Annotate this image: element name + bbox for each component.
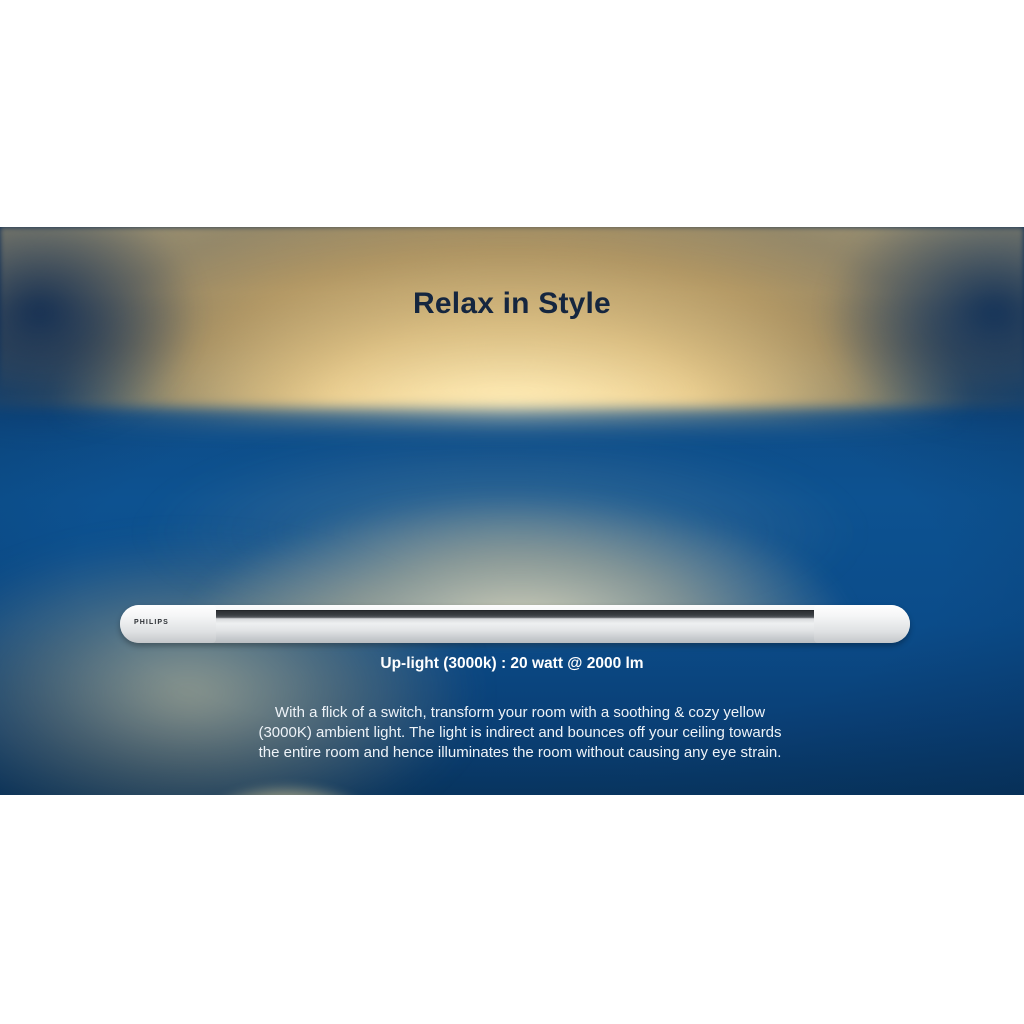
wall-light-glow [188,777,388,795]
page-canvas: Relax in Style PHILIPS Up-light (3000k) … [0,0,1024,1024]
fixture-right-end-cap [814,605,910,643]
description-line-3: the entire room and hence illuminates th… [182,743,858,763]
product-banner: Relax in Style PHILIPS Up-light (3000k) … [0,227,1024,795]
page-title: Relax in Style [0,287,1024,321]
living-room-illustration [60,783,405,795]
product-light-fixture: PHILIPS [120,601,910,647]
fixture-diffuser-slot [208,611,818,637]
description-line-2: (3000K) ambient light. The light is indi… [182,723,858,743]
product-spec-subtitle: Up-light (3000k) : 20 watt @ 2000 lm [0,655,1024,673]
description-line-1: With a flick of a switch, transform your… [182,703,858,723]
description-paragraph: With a flick of a switch, transform your… [182,703,858,763]
philips-logo: PHILIPS [134,619,169,626]
fixture-left-end-cap: PHILIPS [120,605,216,643]
